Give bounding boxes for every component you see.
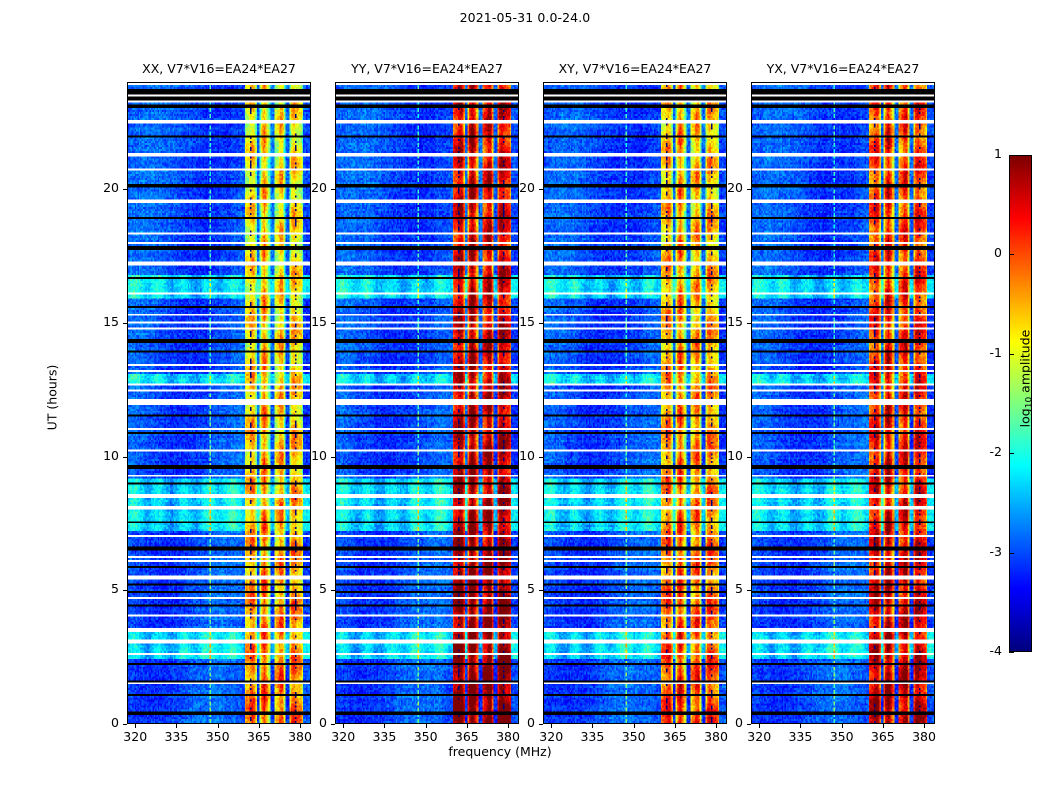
y-tick-mark [331,323,335,324]
x-tick-label: 320 [531,729,571,744]
colorbar-tick-label: 0 [968,245,1002,260]
y-tick-mark [123,590,127,591]
y-tick-mark [747,189,751,190]
y-tick-label: 0 [89,715,119,730]
colorbar-label-suffix: amplitude [1018,330,1033,397]
waterfall-panel-yy[interactable] [335,82,519,724]
x-tick-mark [842,724,843,728]
x-tick-mark [259,724,260,728]
y-tick-label: 20 [297,180,327,195]
x-tick-label: 350 [198,729,238,744]
x-tick-label: 365 [655,729,695,744]
x-tick-label: 365 [863,729,903,744]
y-tick-label: 20 [505,180,535,195]
x-tick-label: 365 [447,729,487,744]
colorbar-tick-label: -3 [968,544,1002,559]
x-tick-label: 350 [406,729,446,744]
x-tick-mark [343,724,344,728]
x-tick-label: 335 [364,729,404,744]
y-tick-mark [747,590,751,591]
colorbar-tick-label: -1 [968,345,1002,360]
colorbar-label-subscript: 10 [1025,397,1035,408]
y-tick-label: 10 [297,448,327,463]
y-tick-label: 5 [297,581,327,596]
x-tick-label: 335 [780,729,820,744]
y-tick-mark [539,457,543,458]
x-tick-mark [384,724,385,728]
colorbar-tick-label: -4 [968,643,1002,658]
y-tick-label: 20 [89,180,119,195]
y-tick-label: 10 [89,448,119,463]
panel-title-yy: YY, V7*V16=EA24*EA27 [335,61,519,76]
y-tick-label: 0 [713,715,743,730]
x-tick-mark [759,724,760,728]
x-tick-mark [467,724,468,728]
y-tick-label: 5 [505,581,535,596]
y-tick-mark [123,457,127,458]
x-tick-label: 350 [614,729,654,744]
colorbar-tick-mark [1009,354,1014,355]
panel-title-xy: XY, V7*V16=EA24*EA27 [543,61,727,76]
x-tick-label: 320 [115,729,155,744]
y-tick-label: 5 [89,581,119,596]
x-tick-label: 335 [156,729,196,744]
x-tick-mark [675,724,676,728]
x-tick-label: 380 [488,729,528,744]
y-tick-mark [747,457,751,458]
waterfall-panel-xy[interactable] [543,82,727,724]
x-tick-mark [135,724,136,728]
panel-title-yx: YX, V7*V16=EA24*EA27 [751,61,935,76]
y-tick-label: 10 [713,448,743,463]
y-tick-mark [539,189,543,190]
colorbar-tick-label: 1 [968,146,1002,161]
colorbar-label: log10 amplitude [1018,319,1035,439]
y-tick-mark [123,323,127,324]
x-tick-label: 320 [739,729,779,744]
colorbar-tick-mark [1009,254,1014,255]
x-tick-mark [426,724,427,728]
colorbar-tick-mark [1009,553,1014,554]
x-tick-mark [634,724,635,728]
y-tick-mark [123,724,127,725]
colorbar-tick-mark [1009,652,1014,653]
y-tick-label: 10 [505,448,535,463]
x-tick-label: 380 [904,729,944,744]
x-tick-mark [218,724,219,728]
x-tick-label: 365 [239,729,279,744]
waterfall-panel-yx[interactable] [751,82,935,724]
y-tick-label: 15 [505,314,535,329]
y-tick-mark [331,590,335,591]
y-tick-mark [539,590,543,591]
y-tick-mark [331,189,335,190]
x-tick-mark [551,724,552,728]
x-axis-label: frequency (MHz) [0,744,1000,759]
colorbar-label-prefix: log [1018,408,1033,427]
x-tick-mark [176,724,177,728]
colorbar-tick-label: -2 [968,444,1002,459]
x-tick-label: 380 [696,729,736,744]
y-tick-label: 0 [505,715,535,730]
x-tick-mark [800,724,801,728]
x-tick-label: 320 [323,729,363,744]
y-tick-label: 0 [297,715,327,730]
y-tick-label: 15 [89,314,119,329]
y-tick-mark [539,323,543,324]
colorbar-tick-mark [1009,453,1014,454]
x-tick-label: 335 [572,729,612,744]
x-tick-label: 350 [822,729,862,744]
y-tick-mark [747,323,751,324]
x-tick-label: 380 [280,729,320,744]
x-tick-mark [924,724,925,728]
y-tick-label: 15 [713,314,743,329]
x-tick-mark [592,724,593,728]
y-tick-mark [747,724,751,725]
y-tick-label: 5 [713,581,743,596]
y-tick-mark [331,724,335,725]
waterfall-panel-xx[interactable] [127,82,311,724]
y-tick-mark [123,189,127,190]
y-tick-label: 20 [713,180,743,195]
panel-title-xx: XX, V7*V16=EA24*EA27 [127,61,311,76]
y-tick-label: 15 [297,314,327,329]
y-tick-mark [539,724,543,725]
y-axis-label: UT (hours) [45,338,60,458]
colorbar-tick-mark [1009,155,1014,156]
x-tick-mark [883,724,884,728]
y-tick-mark [331,457,335,458]
figure-suptitle: 2021-05-31 0.0-24.0 [0,10,1050,25]
